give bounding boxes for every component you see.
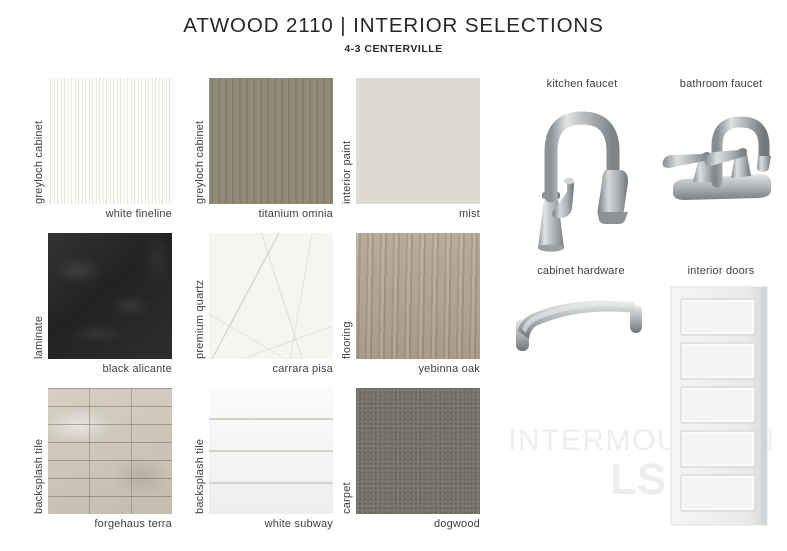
- swatch-name: mist: [356, 208, 480, 220]
- swatch-category: flooring: [341, 321, 353, 359]
- interior-door-icon: [665, 283, 777, 528]
- swatch-category: laminate: [33, 316, 45, 359]
- swatch-image-yebinna-oak: [356, 233, 480, 359]
- watermark-text-secondary: LS: [610, 455, 666, 505]
- swatch-image-dogwood: [356, 388, 480, 514]
- swatch-name: dogwood: [356, 518, 480, 530]
- board-header: ATWOOD 2110 | INTERIOR SELECTIONS 4-3 CE…: [0, 14, 787, 55]
- swatch-image-forgehaus-terra: [48, 388, 172, 514]
- swatch-name: black alicante: [48, 363, 172, 375]
- bathroom-faucet-icon: [655, 96, 787, 216]
- swatch-image-titanium-omnia: [209, 78, 333, 204]
- swatch-category: carpet: [341, 482, 353, 514]
- swatch-image-white-subway: [209, 388, 333, 514]
- product-card-interior-doors[interactable]: interior doors: [665, 265, 777, 530]
- swatch-name: yebinna oak: [356, 363, 480, 375]
- interior-selections-board: ATWOOD 2110 | INTERIOR SELECTIONS 4-3 CE…: [0, 0, 787, 551]
- swatch-category: interior paint: [341, 141, 353, 204]
- page-title: ATWOOD 2110 | INTERIOR SELECTIONS: [0, 14, 787, 38]
- swatch-image-carrara-pisa: [209, 233, 333, 359]
- swatch-category: premium quartz: [194, 280, 206, 359]
- swatch-category: greyloch cabinet: [33, 121, 45, 204]
- product-label: cabinet hardware: [508, 265, 654, 277]
- swatch-name: carrara pisa: [209, 363, 333, 375]
- swatch-image-mist: [356, 78, 480, 204]
- kitchen-faucet-icon: [512, 96, 652, 254]
- swatch-name: white fineline: [48, 208, 172, 220]
- swatch-category: greyloch cabinet: [194, 121, 206, 204]
- swatch-name: white subway: [209, 518, 333, 530]
- swatch-category: backsplash tile: [33, 439, 45, 514]
- product-card-cabinet-hardware[interactable]: cabinet hardware: [508, 265, 654, 365]
- swatch-name: titanium omnia: [209, 208, 333, 220]
- swatch-image-black-alicante: [48, 233, 172, 359]
- product-label: interior doors: [665, 265, 777, 277]
- product-label: kitchen faucet: [512, 78, 652, 90]
- swatch-category: backsplash tile: [194, 439, 206, 514]
- product-card-kitchen-faucet[interactable]: kitchen faucet: [512, 78, 652, 253]
- product-card-bathroom-faucet[interactable]: bathroom faucet: [655, 78, 787, 218]
- product-label: bathroom faucet: [655, 78, 787, 90]
- cabinet-pull-icon: [508, 283, 654, 363]
- page-subtitle: 4-3 CENTERVILLE: [0, 43, 787, 55]
- swatch-image-white-fineline: [48, 78, 172, 204]
- swatch-name: forgehaus terra: [48, 518, 172, 530]
